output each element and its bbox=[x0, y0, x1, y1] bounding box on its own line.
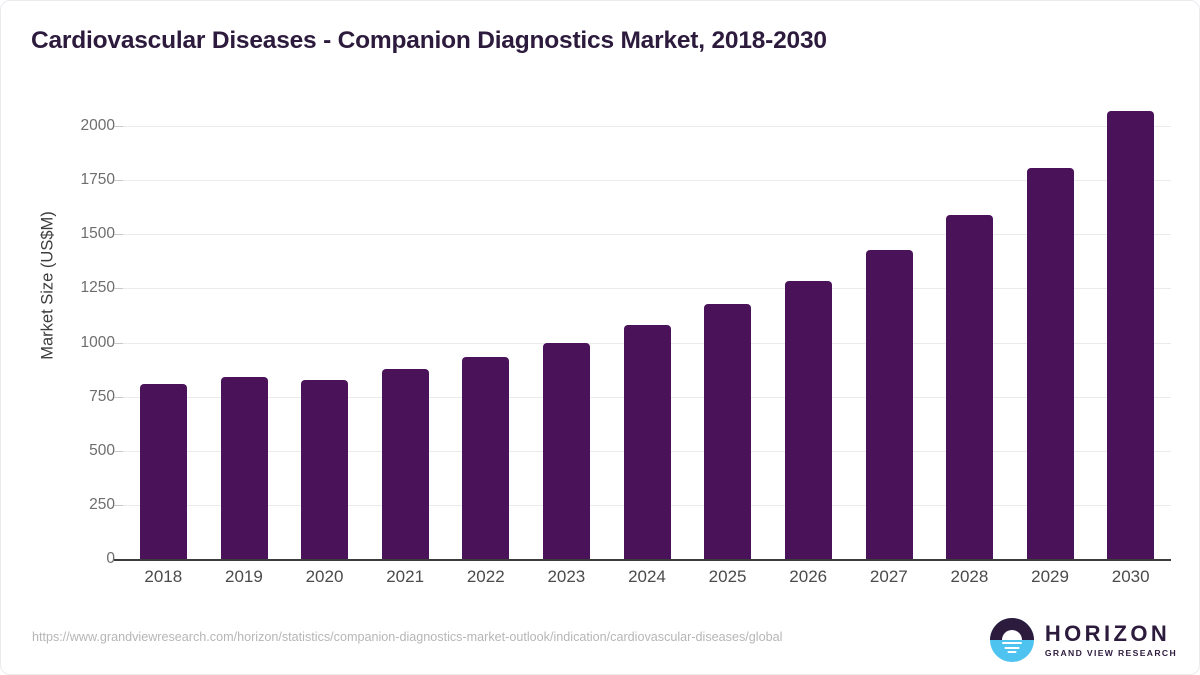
x-axis-tick-label: 2018 bbox=[123, 567, 204, 587]
x-axis-tick-labels: 2018201920202021202220232024202520262027… bbox=[123, 567, 1171, 597]
y-axis-tick-mark bbox=[114, 234, 123, 235]
x-axis-tick-label: 2022 bbox=[445, 567, 526, 587]
y-axis-tick-label: 2000 bbox=[63, 117, 115, 135]
x-axis-tick-label: 2026 bbox=[768, 567, 849, 587]
logo-tagline: GRAND VIEW RESEARCH bbox=[1045, 649, 1177, 658]
y-axis-tick-mark bbox=[114, 397, 123, 398]
bar[interactable] bbox=[382, 369, 429, 559]
source-url[interactable]: https://www.grandviewresearch.com/horizo… bbox=[32, 629, 952, 646]
bar[interactable] bbox=[866, 250, 913, 559]
bar-series bbox=[123, 126, 1171, 559]
bar-slot bbox=[849, 126, 930, 559]
logo-text: HORIZON GRAND VIEW RESEARCH bbox=[1045, 623, 1177, 658]
y-axis-tick-mark bbox=[114, 451, 123, 452]
x-axis-tick-label: 2019 bbox=[204, 567, 285, 587]
x-axis-tick-label: 2030 bbox=[1090, 567, 1171, 587]
bar[interactable] bbox=[221, 377, 268, 559]
horizon-logo-icon bbox=[990, 618, 1034, 662]
bar-slot bbox=[768, 126, 849, 559]
bar[interactable] bbox=[462, 357, 509, 559]
x-axis-tick-label: 2029 bbox=[1010, 567, 1091, 587]
y-axis-title: Market Size (US$M) bbox=[39, 176, 58, 396]
y-axis-tick-mark bbox=[114, 126, 123, 127]
y-axis-tick-label: 1000 bbox=[63, 334, 115, 352]
bar-slot bbox=[445, 126, 526, 559]
bar-slot bbox=[123, 126, 204, 559]
y-axis-tick-mark bbox=[114, 505, 123, 506]
y-axis-tick-label: 1250 bbox=[63, 279, 115, 297]
x-axis-tick-label: 2028 bbox=[929, 567, 1010, 587]
bar-slot bbox=[687, 126, 768, 559]
horizon-logo: HORIZON GRAND VIEW RESEARCH bbox=[990, 618, 1177, 662]
y-axis-tick-label: 0 bbox=[63, 550, 115, 568]
bar[interactable] bbox=[785, 281, 832, 559]
x-axis-tick-label: 2023 bbox=[526, 567, 607, 587]
bar-slot bbox=[284, 126, 365, 559]
logo-wordmark: HORIZON bbox=[1045, 623, 1177, 645]
bar-slot bbox=[526, 126, 607, 559]
bar[interactable] bbox=[946, 215, 993, 559]
bar[interactable] bbox=[624, 325, 671, 559]
y-axis-tick-mark bbox=[114, 180, 123, 181]
x-axis-tick-label: 2024 bbox=[607, 567, 688, 587]
y-axis-tick-label: 250 bbox=[63, 496, 115, 514]
x-axis-tick-label: 2027 bbox=[849, 567, 930, 587]
bar-slot bbox=[204, 126, 285, 559]
plot-area: Market Size (US$M) 025050075010001250150… bbox=[1, 1, 1200, 675]
bar[interactable] bbox=[704, 304, 751, 559]
bar[interactable] bbox=[301, 380, 348, 559]
bar-slot bbox=[1010, 126, 1091, 559]
bar[interactable] bbox=[543, 343, 590, 560]
bar-slot bbox=[929, 126, 1010, 559]
y-axis-tick-labels: 025050075010001250150017502000 bbox=[63, 126, 115, 559]
y-axis-tick-mark bbox=[114, 343, 123, 344]
bar[interactable] bbox=[1107, 111, 1154, 559]
x-axis-line bbox=[114, 559, 1171, 561]
y-axis-tick-label: 750 bbox=[63, 388, 115, 406]
y-axis-tick-mark bbox=[114, 288, 123, 289]
x-axis-tick-label: 2020 bbox=[284, 567, 365, 587]
y-axis-tick-label: 1500 bbox=[63, 225, 115, 243]
x-axis-tick-label: 2021 bbox=[365, 567, 446, 587]
x-axis-tick-label: 2025 bbox=[687, 567, 768, 587]
bar-slot bbox=[365, 126, 446, 559]
y-axis-tick-label: 1750 bbox=[63, 171, 115, 189]
bar-slot bbox=[607, 126, 688, 559]
bar[interactable] bbox=[140, 384, 187, 559]
chart-card: Cardiovascular Diseases - Companion Diag… bbox=[0, 0, 1200, 675]
bar[interactable] bbox=[1027, 168, 1074, 559]
y-axis-tick-label: 500 bbox=[63, 442, 115, 460]
bar-slot bbox=[1090, 126, 1171, 559]
